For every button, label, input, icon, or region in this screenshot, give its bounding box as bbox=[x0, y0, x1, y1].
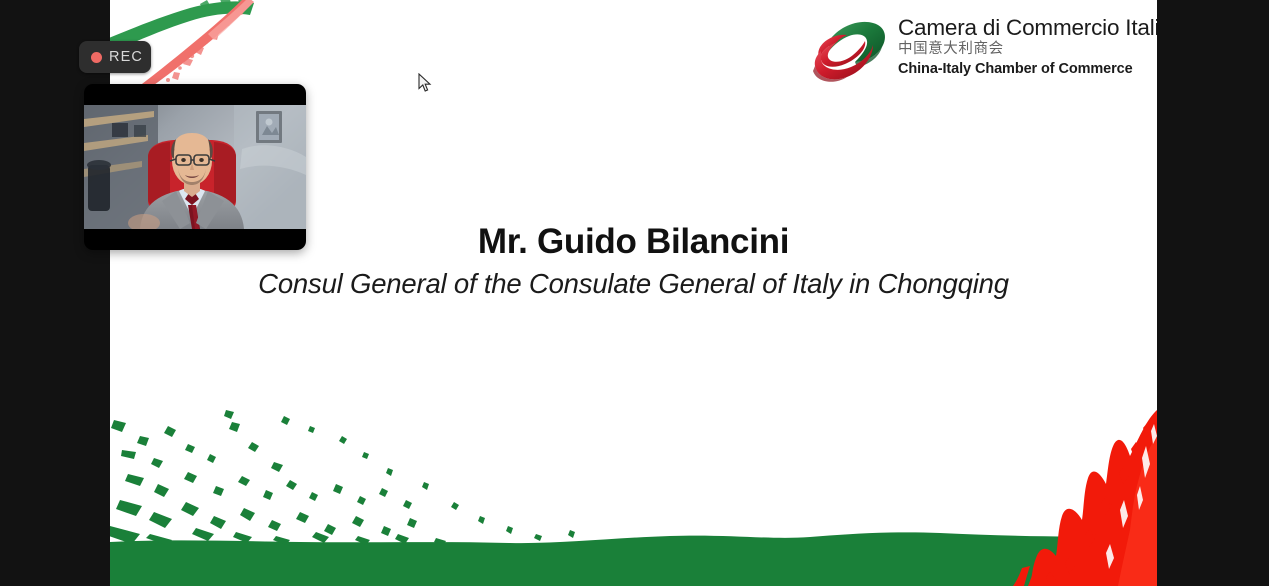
cicc-logo: Camera di Commercio Italiana 中国意大利商会 Chi… bbox=[805, 14, 1157, 85]
logo-line-italian: Camera di Commercio Italiana bbox=[898, 15, 1157, 40]
green-brush-fleck bbox=[200, 0, 249, 10]
green-splatter bbox=[110, 410, 575, 546]
logo-line-chinese: 中国意大利商会 bbox=[898, 40, 1157, 60]
speaker-role: Consul General of the Consulate General … bbox=[110, 268, 1157, 300]
record-dot-icon bbox=[91, 52, 102, 63]
logo-mark-svg bbox=[805, 17, 889, 85]
bottom-decoration-svg bbox=[110, 396, 1157, 586]
screen: Camera di Commercio Italiana 中国意大利商会 Chi… bbox=[0, 0, 1269, 586]
red-brush-speckle bbox=[159, 8, 245, 92]
self-view-video-tile[interactable] bbox=[84, 84, 306, 250]
green-band bbox=[110, 532, 1157, 586]
letterbox-bar-right bbox=[1157, 0, 1269, 586]
bottom-decoration bbox=[110, 396, 1157, 586]
logo-wordmark: Camera di Commercio Italiana 中国意大利商会 Chi… bbox=[898, 14, 1157, 79]
logo-line-english: China-Italy Chamber of Commerce bbox=[898, 60, 1157, 79]
recording-label: REC bbox=[109, 49, 143, 65]
webcam-image-svg bbox=[84, 105, 306, 229]
recording-indicator[interactable]: REC bbox=[79, 41, 151, 73]
video-frame bbox=[84, 105, 306, 229]
red-flame-decoration bbox=[1013, 410, 1157, 586]
red-brush-highlight bbox=[208, 0, 254, 40]
cicc-swoosh-logo-icon bbox=[805, 17, 889, 85]
